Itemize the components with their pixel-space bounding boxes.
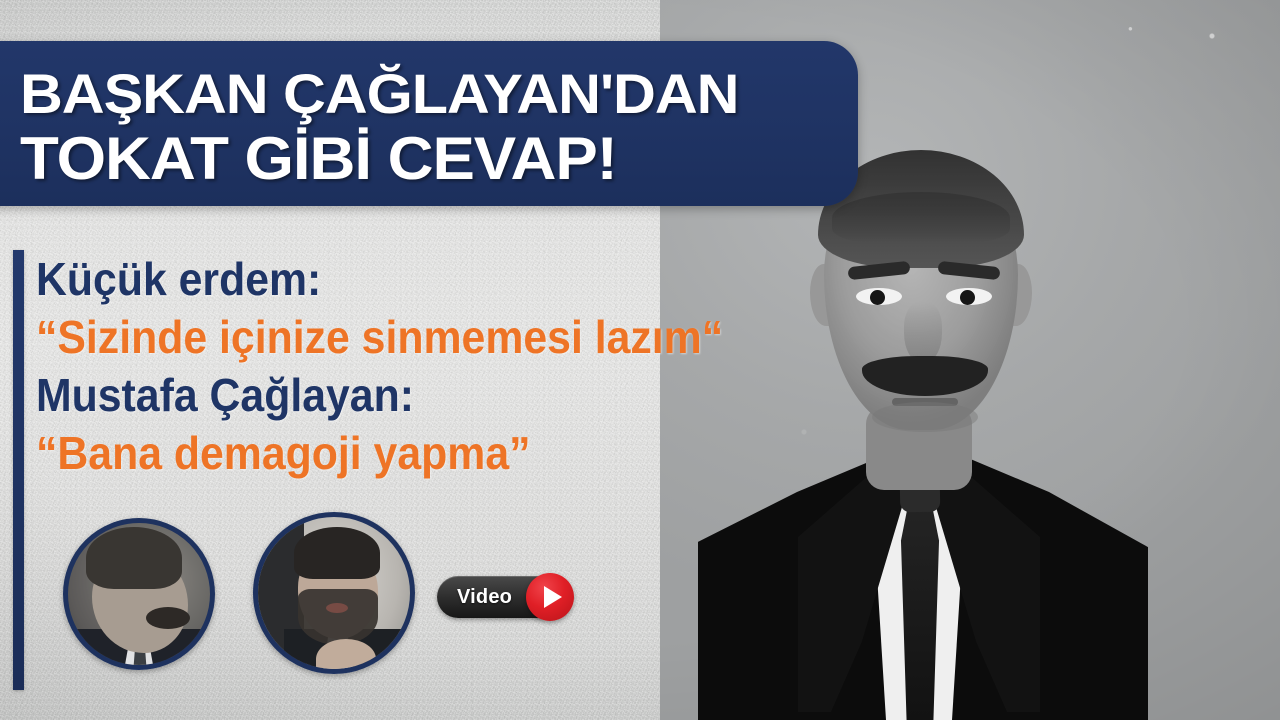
subtitle-line-speaker-1: Küçük erdem:: [36, 250, 780, 308]
thumb2-mouth: [326, 603, 348, 613]
portrait-nose: [904, 302, 942, 364]
video-badge-label: Video: [457, 586, 512, 609]
subtitle-line-quote-2: “Bana demagoji yapma”: [36, 424, 780, 482]
thumbnail-person-left[interactable]: [63, 518, 215, 670]
subtitle-line-quote-1: “Sizinde içinize sinmemesi lazım“: [36, 308, 780, 366]
news-graphic-canvas: BAŞKAN ÇAĞLAYAN'DAN TOKAT GİBİ CEVAP! Kü…: [0, 0, 1280, 720]
portrait-iris-right: [960, 290, 975, 305]
portrait-chin: [872, 402, 978, 432]
play-icon: [544, 586, 562, 608]
headline-line-1: BAŞKAN ÇAĞLAYAN'DAN: [20, 62, 883, 126]
thumb1-mustache: [146, 607, 190, 629]
headline-text-group: BAŞKAN ÇAĞLAYAN'DAN TOKAT GİBİ CEVAP!: [0, 41, 858, 206]
left-accent-bar: [13, 250, 24, 690]
headline-banner: BAŞKAN ÇAĞLAYAN'DAN TOKAT GİBİ CEVAP!: [0, 41, 858, 206]
thumb2-hand: [316, 639, 376, 674]
play-button[interactable]: [526, 573, 574, 621]
thumb2-hair: [294, 527, 380, 579]
portrait-iris-left: [870, 290, 885, 305]
video-badge[interactable]: Video: [437, 573, 574, 621]
subtitle-block: Küçük erdem: “Sizinde içinize sinmemesi …: [36, 250, 836, 482]
headline-line-2: TOKAT GİBİ CEVAP!: [20, 126, 883, 192]
thumb1-hair: [86, 527, 182, 589]
subtitle-line-speaker-2: Mustafa Çağlayan:: [36, 366, 780, 424]
thumbnail-person-right[interactable]: [253, 512, 415, 674]
thumb2-beard: [298, 589, 378, 645]
